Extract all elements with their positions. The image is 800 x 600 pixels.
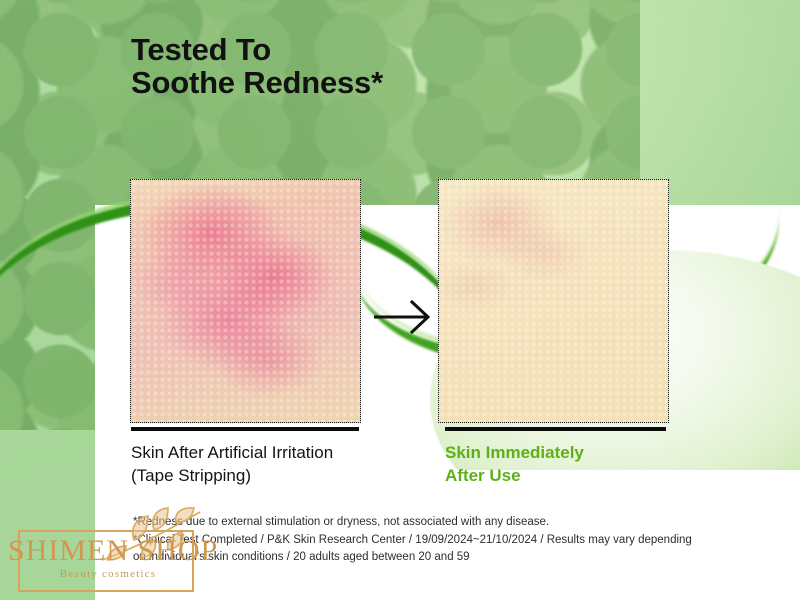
skin-photo-before-texture — [131, 180, 360, 422]
caption-before-line-2: (Tape Stripping) — [131, 464, 333, 487]
watermark-name: SHIMEN SHOP — [8, 534, 208, 568]
caption-after-line-1: Skin Immediately — [445, 441, 584, 464]
watermark-logo: SHIMEN SHOP Beauty cosmetics — [4, 506, 234, 598]
arrow-right-icon — [373, 300, 433, 334]
caption-after-line-2: After Use — [445, 464, 584, 487]
advertisement-canvas: Tested To Soothe Redness* Skin After Art… — [0, 0, 800, 600]
skin-photo-before — [130, 179, 361, 423]
skin-photo-after — [438, 179, 669, 423]
page-title-line-2: Soothe Redness* — [131, 66, 383, 99]
page-title: Tested To Soothe Redness* — [131, 33, 383, 99]
watermark-tagline: Beauty cosmetics — [8, 568, 208, 580]
caption-after: Skin Immediately After Use — [445, 441, 584, 487]
page-title-line-1: Tested To — [131, 33, 383, 66]
skin-photo-after-texture — [439, 180, 668, 422]
divider-rule-after — [445, 427, 666, 431]
divider-rule-before — [131, 427, 359, 431]
caption-before: Skin After Artificial Irritation (Tape S… — [131, 441, 333, 487]
caption-before-line-1: Skin After Artificial Irritation — [131, 441, 333, 464]
